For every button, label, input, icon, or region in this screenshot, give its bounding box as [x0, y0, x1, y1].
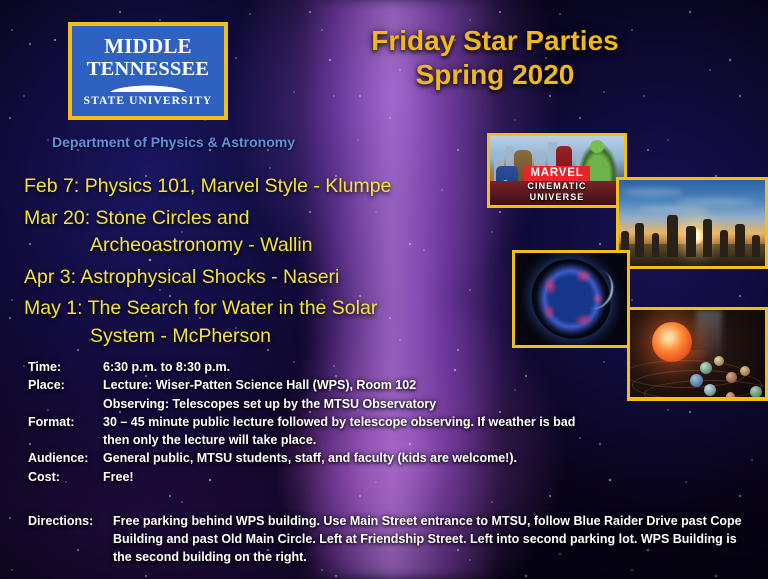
- detail-row-place: Place: Lecture: Wiser-Patten Science Hal…: [28, 376, 628, 413]
- photo-standing-stone-circle: [616, 177, 768, 269]
- stone-circle-artwork: [619, 180, 765, 266]
- lecture-line-1: May 1: The Search for Water in the Solar: [24, 297, 377, 319]
- photo-marvel-cinematic-universe: MARVEL CINEMATIC UNIVERSE: [487, 133, 627, 208]
- standing-stone: [686, 226, 696, 257]
- mtsu-logo: MIDDLE TENNESSEE STATE UNIVERSITY: [68, 22, 228, 120]
- mtsu-logo-panel: MIDDLE TENNESSEE STATE UNIVERSITY: [72, 26, 224, 116]
- lecture-item: Feb 7: Physics 101, Marvel Style - Klump…: [24, 177, 474, 197]
- lecture-list: Feb 7: Physics 101, Marvel Style - Klump…: [24, 177, 474, 358]
- mtsu-logo-line-state-university: STATE UNIVERSITY: [84, 95, 213, 107]
- marvel-wordmark: MARVEL CINEMATIC UNIVERSE: [490, 163, 624, 203]
- planet: [740, 366, 750, 376]
- marvel-artwork: MARVEL CINEMATIC UNIVERSE: [490, 136, 624, 205]
- planet: [690, 374, 703, 387]
- cloud: [639, 206, 709, 212]
- mtsu-logo-line-middle: MIDDLE: [104, 36, 192, 57]
- headline-line-2: Spring 2020: [300, 58, 690, 92]
- planet: [726, 372, 737, 383]
- photo-trappist-planetary-system: [627, 307, 768, 400]
- standing-stone: [652, 233, 659, 257]
- detail-label: Format:: [28, 413, 103, 431]
- directions-value: Free parking behind WPS building. Use Ma…: [113, 512, 758, 566]
- hulk-head: [590, 140, 604, 153]
- detail-value: 6:30 p.m. to 8:30 p.m.: [103, 358, 628, 376]
- standing-stone: [735, 224, 745, 257]
- lecture-item: May 1: The Search for Water in the Solar…: [24, 299, 474, 346]
- detail-value: Free!: [103, 468, 628, 486]
- standing-stone: [703, 219, 712, 257]
- mtsu-logo-line-tennessee: TENNESSEE: [87, 59, 210, 80]
- cloud: [623, 188, 683, 196]
- detail-value: 30 – 45 minute public lecture followed b…: [103, 413, 628, 450]
- marvel-sub-line-1: CINEMATIC: [490, 182, 624, 192]
- lecture-item: Mar 20: Stone Circles and Archeoastronom…: [24, 209, 474, 256]
- photo-frame-edge: [627, 398, 768, 401]
- detail-row-format: Format: 30 – 45 minute public lecture fo…: [28, 413, 628, 450]
- detail-row-audience: Audience: General public, MTSU students,…: [28, 449, 628, 467]
- marvel-logo-text: MARVEL: [524, 166, 589, 181]
- lecture-line-2: Archeoastronomy - Wallin: [24, 236, 474, 256]
- standing-stone: [752, 235, 760, 257]
- headline-line-1: Friday Star Parties: [300, 24, 690, 58]
- planet: [704, 384, 716, 396]
- directions-block: Directions: Free parking behind WPS buil…: [28, 512, 758, 566]
- lecture-item: Apr 3: Astrophysical Shocks - Naseri: [24, 268, 474, 288]
- lecture-line-1: Apr 3: Astrophysical Shocks - Naseri: [24, 266, 339, 288]
- cloud: [675, 198, 755, 205]
- planetary-system-artwork: [630, 310, 765, 397]
- page-title: Friday Star Parties Spring 2020: [300, 24, 690, 92]
- detail-row-cost: Cost: Free!: [28, 468, 628, 486]
- department-subtitle: Department of Physics & Astronomy: [52, 134, 295, 150]
- planet: [750, 386, 762, 397]
- photo-supernova-remnant: [512, 250, 630, 348]
- marvel-sub-line-2: UNIVERSE: [490, 193, 624, 203]
- planet: [714, 356, 724, 366]
- detail-row-time: Time: 6:30 p.m. to 8:30 p.m.: [28, 358, 628, 376]
- detail-value: Lecture: Wiser-Patten Science Hall (WPS)…: [103, 376, 628, 413]
- detail-label: Audience:: [28, 449, 103, 467]
- lecture-line-2: System - McPherson: [24, 327, 474, 347]
- planet: [726, 392, 735, 397]
- star-party-poster: MIDDLE TENNESSEE STATE UNIVERSITY Friday…: [0, 0, 768, 579]
- supernova-artwork: [515, 253, 627, 345]
- detail-value: General public, MTSU students, staff, an…: [103, 449, 628, 467]
- planet: [700, 362, 712, 374]
- standing-stone: [635, 223, 644, 257]
- detail-label: Cost:: [28, 468, 103, 486]
- lecture-line-1: Mar 20: Stone Circles and: [24, 207, 249, 229]
- event-details: Time: 6:30 p.m. to 8:30 p.m. Place: Lect…: [28, 358, 628, 486]
- detail-label: Time:: [28, 358, 103, 376]
- standing-stone: [720, 230, 728, 257]
- mtsu-swoosh-icon: [89, 83, 207, 92]
- lecture-line-1: Feb 7: Physics 101, Marvel Style - Klump…: [24, 175, 391, 197]
- detail-label: Place:: [28, 376, 103, 394]
- directions-label: Directions:: [28, 512, 113, 566]
- standing-stone: [667, 215, 678, 257]
